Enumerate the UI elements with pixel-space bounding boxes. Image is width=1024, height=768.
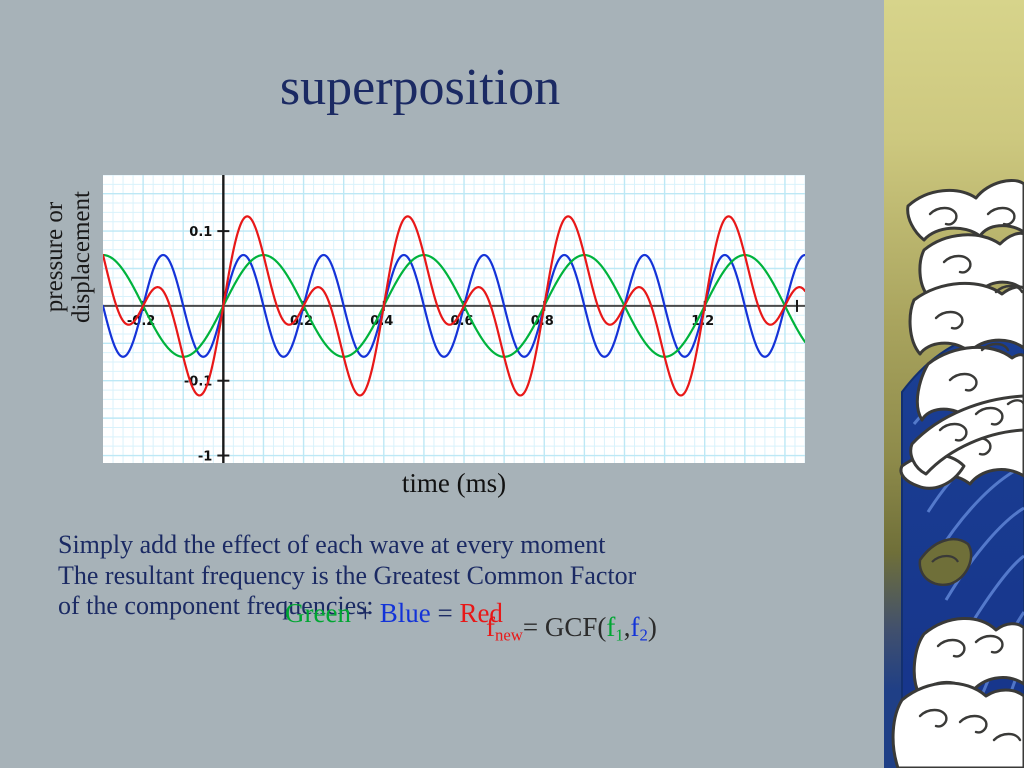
color-equation-plus: + bbox=[358, 598, 373, 628]
y-axis-label: pressure or displacement bbox=[41, 167, 95, 347]
great-wave-artwork bbox=[884, 0, 1024, 768]
svg-text:-1: -1 bbox=[198, 450, 212, 463]
superposition-chart: -0.20.20.40.60.81.20.1-0.1-1 bbox=[103, 175, 805, 463]
gcf-close-paren: ) bbox=[648, 612, 657, 642]
gcf-f2: f2 bbox=[631, 612, 648, 642]
gcf-f1: f1 bbox=[606, 612, 623, 642]
gcf-equation: fnew= GCF(f1,f2) bbox=[486, 612, 657, 646]
y-axis-label-line1: pressure or bbox=[41, 167, 68, 347]
gcf-f2-label: f bbox=[631, 612, 640, 642]
svg-text:0.1: 0.1 bbox=[189, 225, 212, 240]
body-line-1: Simply add the effect of each wave at ev… bbox=[58, 530, 848, 561]
page-title: superposition bbox=[0, 58, 840, 117]
y-axis-label-line2: displacement bbox=[68, 167, 95, 347]
gcf-equals: = GCF( bbox=[523, 612, 607, 642]
color-equation-green: Green bbox=[285, 598, 351, 628]
hokusai-wave-illustration bbox=[884, 0, 1024, 768]
gcf-f-subscript: new bbox=[495, 626, 523, 645]
color-equation-equals: = bbox=[437, 598, 452, 628]
gcf-f-label: f bbox=[486, 612, 495, 642]
gcf-f2-subscript: 2 bbox=[640, 626, 648, 645]
color-equation: Green + Blue = Red bbox=[285, 598, 503, 629]
waveform-plot: -0.20.20.40.60.81.20.1-0.1-1 bbox=[103, 175, 805, 463]
gcf-f1-subscript: 1 bbox=[615, 626, 623, 645]
chart-plot-area: -0.20.20.40.60.81.20.1-0.1-1 bbox=[103, 175, 805, 463]
gcf-f-new: fnew bbox=[486, 612, 523, 642]
body-line-2: The resultant frequency is the Greatest … bbox=[58, 561, 848, 592]
color-equation-blue: Blue bbox=[380, 598, 431, 628]
gcf-comma: , bbox=[624, 612, 631, 642]
x-axis-label: time (ms) bbox=[103, 468, 805, 499]
